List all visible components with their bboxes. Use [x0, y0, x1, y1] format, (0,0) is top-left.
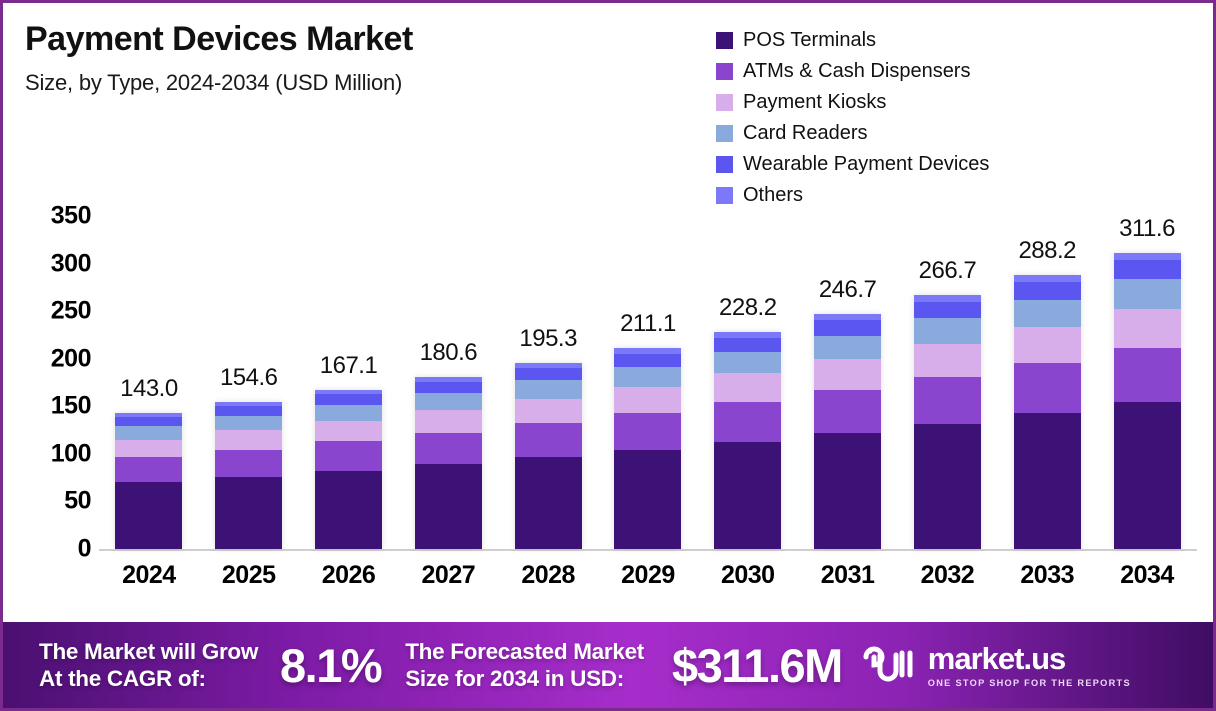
x-axis-tick-label: 2029 — [598, 561, 697, 590]
bar-segment[interactable] — [1014, 300, 1081, 327]
bar-segment[interactable] — [1114, 279, 1181, 309]
y-axis-tick-label: 0 — [78, 535, 91, 564]
bar-segment[interactable] — [814, 390, 881, 433]
bar-segment[interactable] — [714, 352, 781, 374]
bar-segment[interactable] — [115, 417, 182, 426]
bar-segment[interactable] — [415, 382, 482, 393]
stacked-bar[interactable] — [315, 390, 382, 549]
bar-segment[interactable] — [614, 367, 681, 387]
chart-subtitle: Size, by Type, 2024-2034 (USD Million) — [25, 70, 685, 96]
bar-segment[interactable] — [115, 426, 182, 440]
chart-header: Payment Devices Market Size, by Type, 20… — [25, 21, 685, 96]
x-axis-baseline — [99, 549, 1197, 551]
bar-segment[interactable] — [814, 359, 881, 390]
bar-group[interactable]: 211.1 — [598, 198, 697, 549]
bar-segment[interactable] — [415, 410, 482, 432]
legend-item-label: Wearable Payment Devices — [743, 153, 989, 176]
bar-segment[interactable] — [614, 450, 681, 549]
bar-segment[interactable] — [614, 413, 681, 450]
bar-segment[interactable] — [415, 393, 482, 410]
x-axis-tick-label: 2033 — [998, 561, 1097, 590]
x-axis-tick-label: 2031 — [798, 561, 897, 590]
stacked-bar[interactable] — [814, 314, 881, 549]
bar-value-label: 195.3 — [499, 325, 598, 353]
market-size-label-line2: Size for 2034 in USD: — [405, 665, 644, 692]
legend-item[interactable]: ATMs & Cash Dispensers — [716, 58, 989, 85]
bar-value-label: 143.0 — [99, 375, 198, 403]
brand-name: market.us — [928, 643, 1131, 674]
bar-segment[interactable] — [215, 430, 282, 449]
legend-swatch-icon — [716, 32, 733, 49]
bar-group[interactable]: 228.2 — [698, 198, 797, 549]
stacked-bar[interactable] — [914, 295, 981, 549]
cagr-label-line2: At the CAGR of: — [39, 665, 258, 692]
bar-segment[interactable] — [1014, 275, 1081, 282]
bar-segment[interactable] — [515, 399, 582, 423]
stacked-bar[interactable] — [115, 413, 182, 549]
x-axis-tick-label: 2026 — [299, 561, 398, 590]
bar-segment[interactable] — [315, 441, 382, 470]
x-axis-tick-label: 2028 — [499, 561, 598, 590]
stacked-bar[interactable] — [1114, 253, 1181, 549]
x-axis-tick-label: 2025 — [199, 561, 298, 590]
bar-segment[interactable] — [1114, 309, 1181, 348]
bar-segment[interactable] — [515, 368, 582, 380]
bar-group[interactable]: 266.7 — [898, 198, 997, 549]
bar-segment[interactable] — [714, 442, 781, 549]
bar-segment[interactable] — [614, 387, 681, 413]
x-axis-tick-label: 2032 — [898, 561, 997, 590]
bar-segment[interactable] — [914, 318, 981, 343]
bar-segment[interactable] — [814, 433, 881, 549]
stacked-bar[interactable] — [614, 348, 681, 549]
bar-segment[interactable] — [1014, 327, 1081, 363]
bar-segment[interactable] — [115, 440, 182, 458]
chart-plot-area: 350300250200150100500 143.0154.6167.1180… — [3, 198, 1213, 558]
market-us-logo-icon — [860, 643, 916, 687]
bar-value-label: 288.2 — [998, 237, 1097, 265]
brand-wordmark: market.us ONE STOP SHOP FOR THE REPORTS — [928, 643, 1131, 688]
bar-segment[interactable] — [115, 457, 182, 482]
infographic-frame: Payment Devices Market Size, by Type, 20… — [0, 0, 1216, 711]
bar-segment[interactable] — [1114, 253, 1181, 261]
y-axis-tick-label: 100 — [51, 439, 91, 468]
y-axis-tick-label: 250 — [51, 297, 91, 326]
bar-value-label: 154.6 — [199, 364, 298, 392]
bar-segment[interactable] — [814, 336, 881, 360]
legend-swatch-icon — [716, 94, 733, 111]
bar-series-container: 143.0154.6167.1180.6195.3211.1228.2246.7… — [99, 198, 1197, 549]
bar-segment[interactable] — [415, 464, 482, 549]
bar-segment[interactable] — [415, 433, 482, 465]
bar-segment[interactable] — [914, 377, 981, 424]
bar-segment[interactable] — [515, 457, 582, 549]
bar-group[interactable]: 180.6 — [399, 198, 498, 549]
legend-item[interactable]: Wearable Payment Devices — [716, 151, 989, 178]
stacked-bar[interactable] — [515, 363, 582, 549]
bar-segment[interactable] — [315, 421, 382, 442]
cagr-label: The Market will Grow At the CAGR of: — [39, 638, 258, 693]
bar-segment[interactable] — [1014, 413, 1081, 549]
y-axis-tick-label: 150 — [51, 392, 91, 421]
y-axis-tick-label: 200 — [51, 344, 91, 373]
bar-segment[interactable] — [1114, 402, 1181, 549]
bar-value-label: 246.7 — [798, 276, 897, 304]
bar-segment[interactable] — [215, 450, 282, 477]
bar-group[interactable]: 311.6 — [1098, 198, 1197, 549]
bar-value-label: 228.2 — [698, 294, 797, 322]
bar-value-label: 266.7 — [898, 257, 997, 285]
bar-segment[interactable] — [115, 482, 182, 549]
legend-swatch-icon — [716, 63, 733, 80]
stacked-bar[interactable] — [1014, 275, 1081, 549]
bar-segment[interactable] — [914, 424, 981, 549]
bar-segment[interactable] — [1114, 260, 1181, 279]
bar-segment[interactable] — [914, 344, 981, 377]
legend-item[interactable]: Card Readers — [716, 120, 989, 147]
bar-value-label: 180.6 — [399, 339, 498, 367]
bar-segment[interactable] — [714, 402, 781, 442]
cagr-value: 8.1% — [280, 638, 381, 693]
footer-banner: The Market will Grow At the CAGR of: 8.1… — [3, 622, 1213, 708]
legend-item[interactable]: POS Terminals — [716, 27, 989, 54]
market-size-label: The Forecasted Market Size for 2034 in U… — [405, 638, 644, 693]
bar-segment[interactable] — [215, 416, 282, 431]
bar-segment[interactable] — [315, 394, 382, 404]
bar-segment[interactable] — [315, 405, 382, 421]
bar-segment[interactable] — [814, 320, 881, 335]
y-axis-tick-label: 300 — [51, 249, 91, 278]
stacked-bar[interactable] — [714, 332, 781, 549]
bar-segment[interactable] — [714, 373, 781, 401]
cagr-label-line1: The Market will Grow — [39, 638, 258, 665]
x-axis-tick-label: 2027 — [399, 561, 498, 590]
bar-segment[interactable] — [914, 302, 981, 318]
bar-segment[interactable] — [714, 338, 781, 352]
bar-value-label: 211.1 — [598, 310, 697, 338]
bar-segment[interactable] — [515, 423, 582, 457]
market-size-label-line1: The Forecasted Market — [405, 638, 644, 665]
bar-segment[interactable] — [1014, 363, 1081, 414]
y-axis: 350300250200150100500 — [19, 198, 91, 538]
bar-segment[interactable] — [215, 406, 282, 416]
legend-item[interactable]: Payment Kiosks — [716, 89, 989, 116]
bar-segment[interactable] — [1014, 282, 1081, 300]
x-axis-tick-label: 2024 — [99, 561, 198, 590]
x-axis-tick-label: 2030 — [698, 561, 797, 590]
bar-segment[interactable] — [614, 354, 681, 367]
bar-value-label: 311.6 — [1098, 215, 1197, 243]
brand-logo: market.us ONE STOP SHOP FOR THE REPORTS — [860, 643, 1131, 688]
bar-segment[interactable] — [1114, 348, 1181, 403]
stacked-bar[interactable] — [215, 402, 282, 549]
y-axis-tick-label: 350 — [51, 202, 91, 231]
bar-group[interactable]: 288.2 — [998, 198, 1097, 549]
stacked-bar[interactable] — [415, 377, 482, 549]
legend-item-label: ATMs & Cash Dispensers — [743, 60, 970, 83]
x-axis: 2024202520262027202820292030203120322033… — [99, 561, 1197, 590]
bar-group[interactable]: 195.3 — [499, 198, 598, 549]
page-title: Payment Devices Market — [25, 21, 685, 58]
bar-segment[interactable] — [515, 380, 582, 399]
bar-value-label: 167.1 — [299, 352, 398, 380]
chart-legend: POS TerminalsATMs & Cash DispensersPayme… — [716, 27, 989, 209]
bar-segment[interactable] — [215, 477, 282, 549]
bar-segment[interactable] — [315, 471, 382, 549]
legend-item-label: Payment Kiosks — [743, 91, 886, 114]
market-size-value: $311.6M — [672, 638, 842, 693]
bar-group[interactable]: 154.6 — [199, 198, 298, 549]
legend-item-label: Card Readers — [743, 122, 868, 145]
x-axis-tick-label: 2034 — [1098, 561, 1197, 590]
bar-group[interactable]: 246.7 — [798, 198, 897, 549]
bar-group[interactable]: 143.0 — [99, 198, 198, 549]
y-axis-tick-label: 50 — [64, 487, 91, 516]
brand-tagline: ONE STOP SHOP FOR THE REPORTS — [928, 678, 1131, 688]
bar-group[interactable]: 167.1 — [299, 198, 398, 549]
legend-item-label: POS Terminals — [743, 29, 876, 52]
legend-swatch-icon — [716, 156, 733, 173]
legend-swatch-icon — [716, 125, 733, 142]
